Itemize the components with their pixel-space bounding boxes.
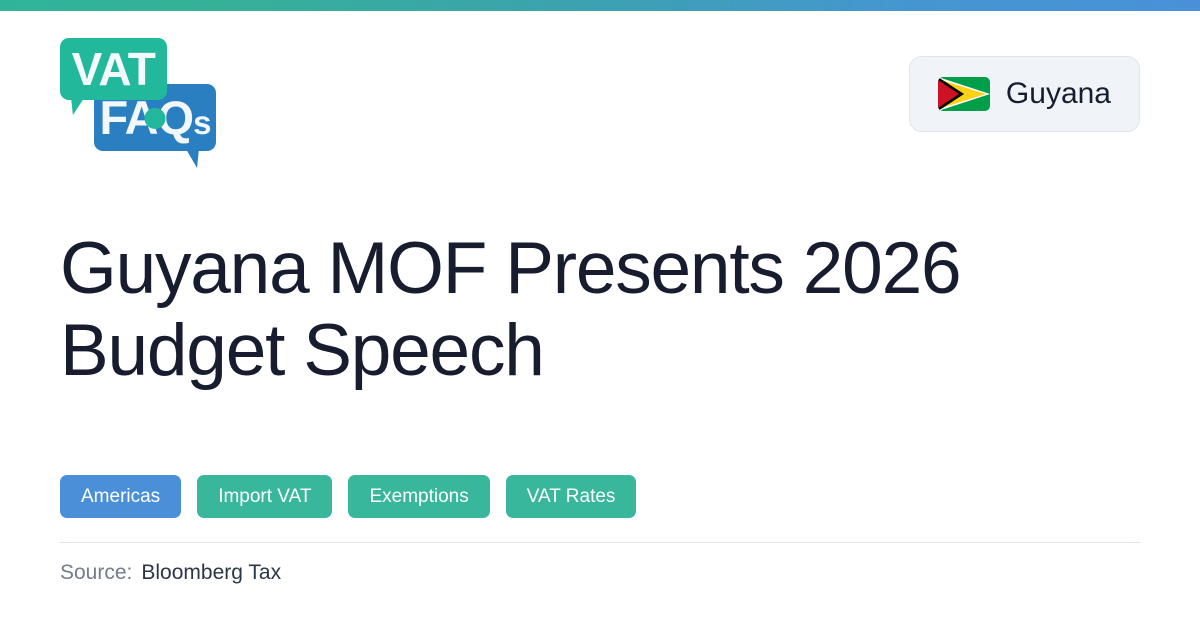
guyana-flag-icon [938,77,990,111]
source-value: Bloomberg Tax [141,562,281,583]
logo-text-vat: VAT [72,46,156,92]
tag-import-vat[interactable]: Import VAT [197,475,332,518]
footer-divider [60,542,1140,543]
logo-bubble-vat-tail [71,98,96,115]
country-name-label: Guyana [1006,79,1111,109]
logo-q-dot-icon [145,107,166,128]
vatfaqs-logo[interactable]: VAT FAQs [60,36,225,151]
tag-list: Americas Import VAT Exemptions VAT Rates [60,475,636,518]
logo-bubble-faqs-tail [172,149,199,168]
card-header: VAT FAQs Guyana [0,11,1200,176]
logo-text-s: s [193,106,210,139]
top-accent-bar [0,0,1200,11]
social-share-card: VAT FAQs Guyana Guyana MOF P [0,0,1200,630]
tag-americas[interactable]: Americas [60,475,181,518]
source-label: Source: [60,562,132,583]
source-line: Source: Bloomberg Tax [60,562,281,583]
logo-bubble-vat: VAT [60,38,167,100]
page-title: Guyana MOF Presents 2026 Budget Speech [60,228,1020,393]
country-badge[interactable]: Guyana [909,56,1140,132]
tag-vat-rates[interactable]: VAT Rates [506,475,637,518]
tag-exemptions[interactable]: Exemptions [348,475,489,518]
